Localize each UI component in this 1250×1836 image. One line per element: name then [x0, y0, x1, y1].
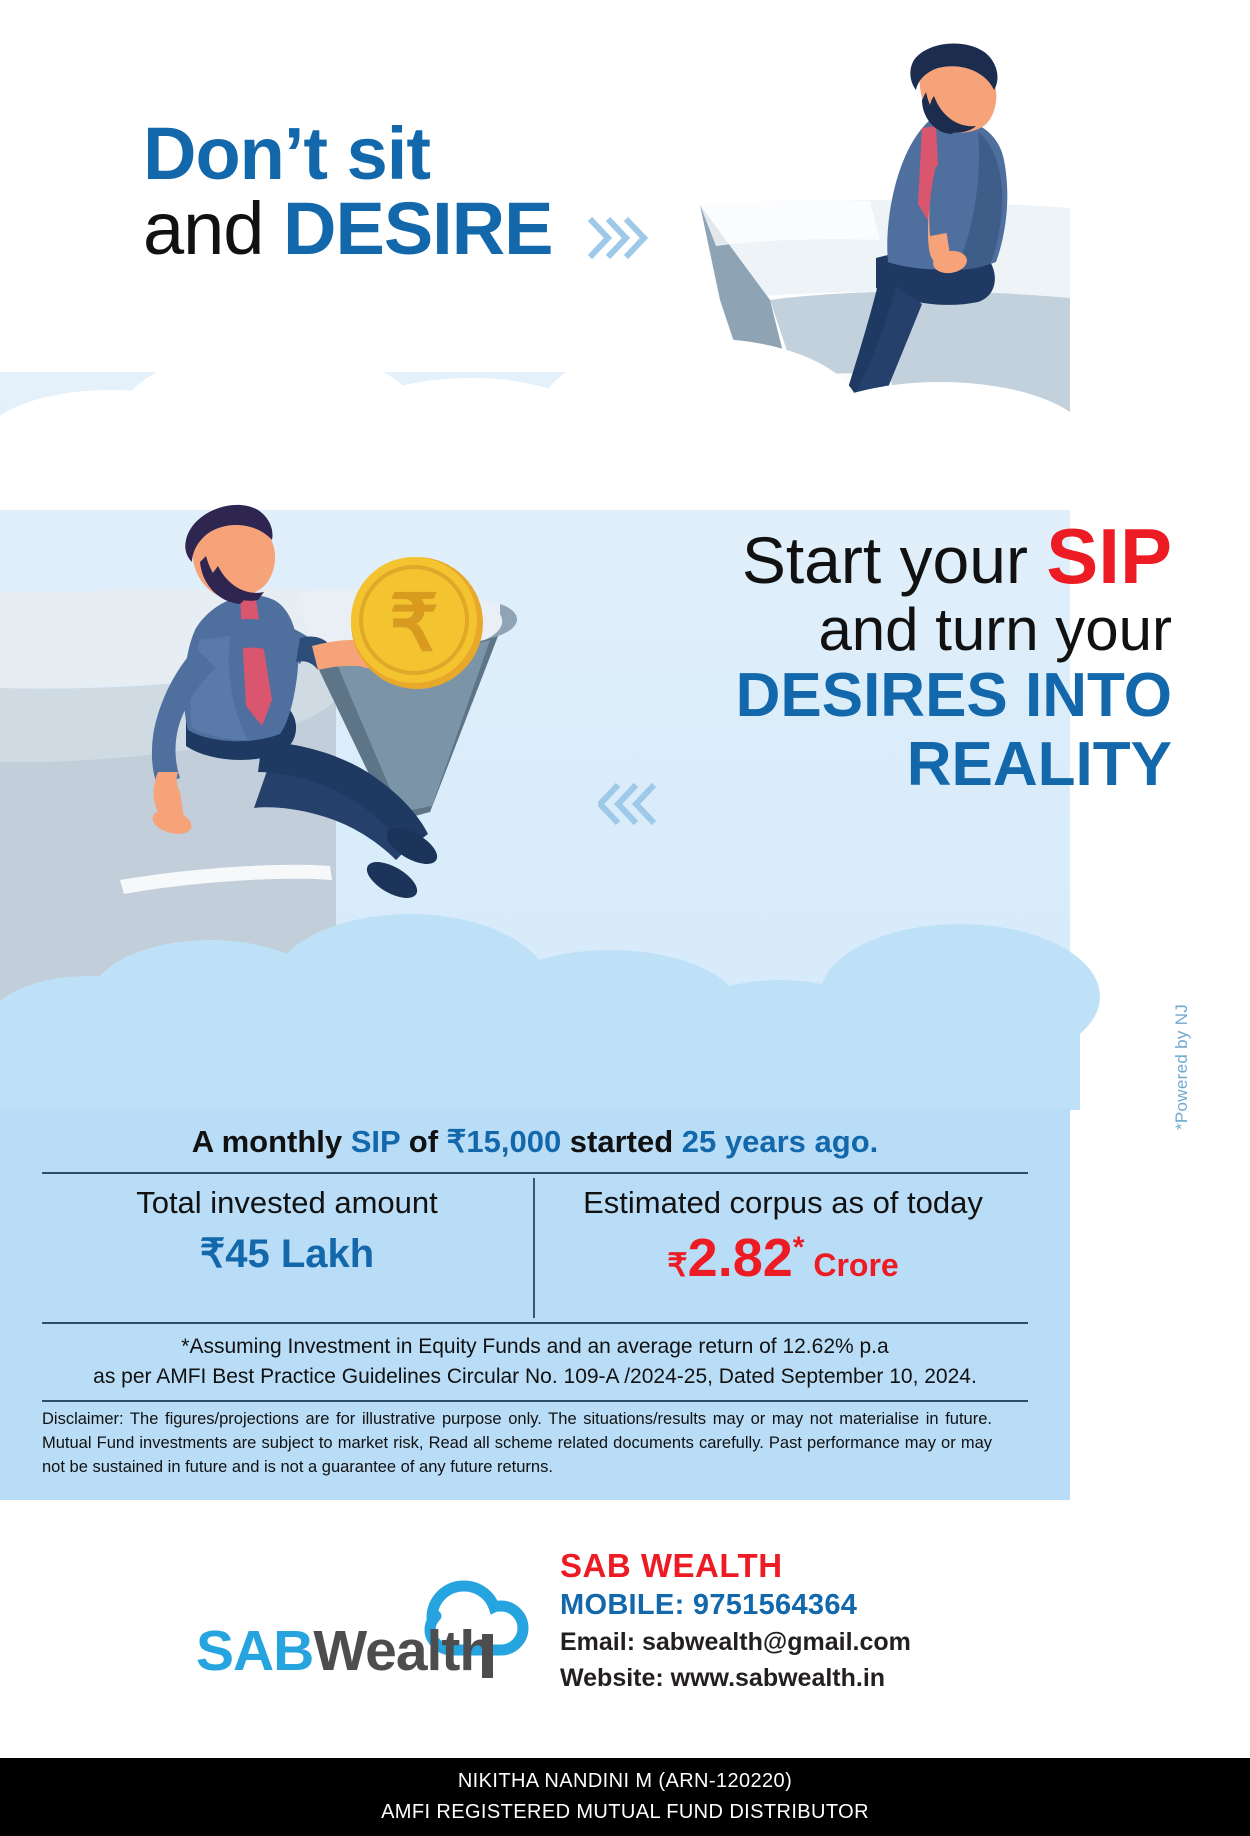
stat-unit: Crore	[804, 1247, 898, 1283]
sip-data-panel: A monthly SIP of ₹15,000 started 25 year…	[0, 1108, 1070, 1500]
headline-main-start: Start your	[742, 523, 1046, 597]
contact-block: SAB WEALTH MOBILE: 9751564364 Email: sab…	[560, 1545, 1080, 1696]
headline-main-line1: Start your SIP	[512, 515, 1172, 598]
powered-by-label: *Powered by NJ	[1172, 810, 1192, 1130]
headline-main-sip: SIP	[1046, 512, 1172, 600]
stat-total-invested: Total invested amount ₹45 Lakh	[42, 1184, 532, 1277]
sip-of: of	[400, 1124, 447, 1159]
stat-number: 45	[225, 1232, 270, 1276]
sip-prefix: A monthly	[192, 1124, 351, 1159]
cloud-band-bottom	[0, 880, 1070, 1100]
svg-text:₹: ₹	[389, 579, 439, 667]
assumption-line2: as per AMFI Best Practice Guidelines Cir…	[42, 1362, 1028, 1392]
divider-vertical	[533, 1178, 535, 1318]
stat-number: 2.82	[688, 1228, 793, 1288]
distributor-designation: AMFI REGISTERED MUTUAL FUND DISTRIBUTOR	[0, 1797, 1250, 1828]
stat-value: ₹45 Lakh	[42, 1231, 532, 1277]
distributor-name: NIKITHA NANDINI M (ARN-120220)	[0, 1758, 1250, 1797]
divider-top	[42, 1172, 1028, 1174]
chevron-left-icon	[598, 782, 656, 826]
sip-summary-line: A monthly SIP of ₹15,000 started 25 year…	[0, 1124, 1070, 1160]
stat-unit: Lakh	[270, 1232, 374, 1276]
poster-stage: Don’t sit and DESIRE	[0, 0, 1250, 1836]
poster-root: Don’t sit and DESIRE	[0, 0, 1250, 1836]
assumption-line1: *Assuming Investment in Equity Funds and…	[42, 1332, 1028, 1362]
stat-estimated-corpus: Estimated corpus as of today ₹2.82* Cror…	[538, 1184, 1028, 1285]
logo-wordmark: SABWealth	[196, 1618, 493, 1684]
stat-caption: Total invested amount	[42, 1184, 532, 1221]
divider-bottom	[42, 1400, 1028, 1402]
contact-website[interactable]: Website: www.sabwealth.in	[560, 1661, 1080, 1697]
contact-mobile[interactable]: MOBILE: 9751564364	[560, 1586, 1080, 1625]
contact-email[interactable]: Email: sabwealth@gmail.com	[560, 1625, 1080, 1661]
asterisk-marker: *	[793, 1231, 805, 1264]
assumption-note: *Assuming Investment in Equity Funds and…	[42, 1332, 1028, 1393]
rupee-symbol: ₹	[200, 1232, 225, 1276]
stat-caption: Estimated corpus as of today	[538, 1184, 1028, 1221]
disclaimer-text: Disclaimer: The figures/projections are …	[42, 1408, 992, 1480]
headline-main-line2: and turn your	[512, 598, 1172, 663]
stat-value: ₹2.82* Crore	[538, 1231, 1028, 1285]
brand-logo: SABWealth	[196, 1560, 536, 1710]
headline-main: Start your SIP and turn your DESIRES INT…	[512, 515, 1172, 799]
sip-started: started	[561, 1124, 682, 1159]
sip-amount: ₹15,000	[447, 1124, 562, 1159]
divider-middle	[42, 1322, 1028, 1324]
headline-main-line3: DESIRES INTO	[512, 662, 1172, 730]
footer-bar: NIKITHA NANDINI M (ARN-120220) AMFI REGI…	[0, 1758, 1250, 1836]
sip-word: SIP	[351, 1124, 400, 1159]
rupee-symbol: ₹	[667, 1247, 687, 1283]
company-name: SAB WEALTH	[560, 1545, 1080, 1586]
logo-sab: SAB	[196, 1619, 313, 1683]
sip-duration: 25 years ago.	[682, 1124, 878, 1159]
logo-wealth: Wealth	[313, 1619, 493, 1683]
